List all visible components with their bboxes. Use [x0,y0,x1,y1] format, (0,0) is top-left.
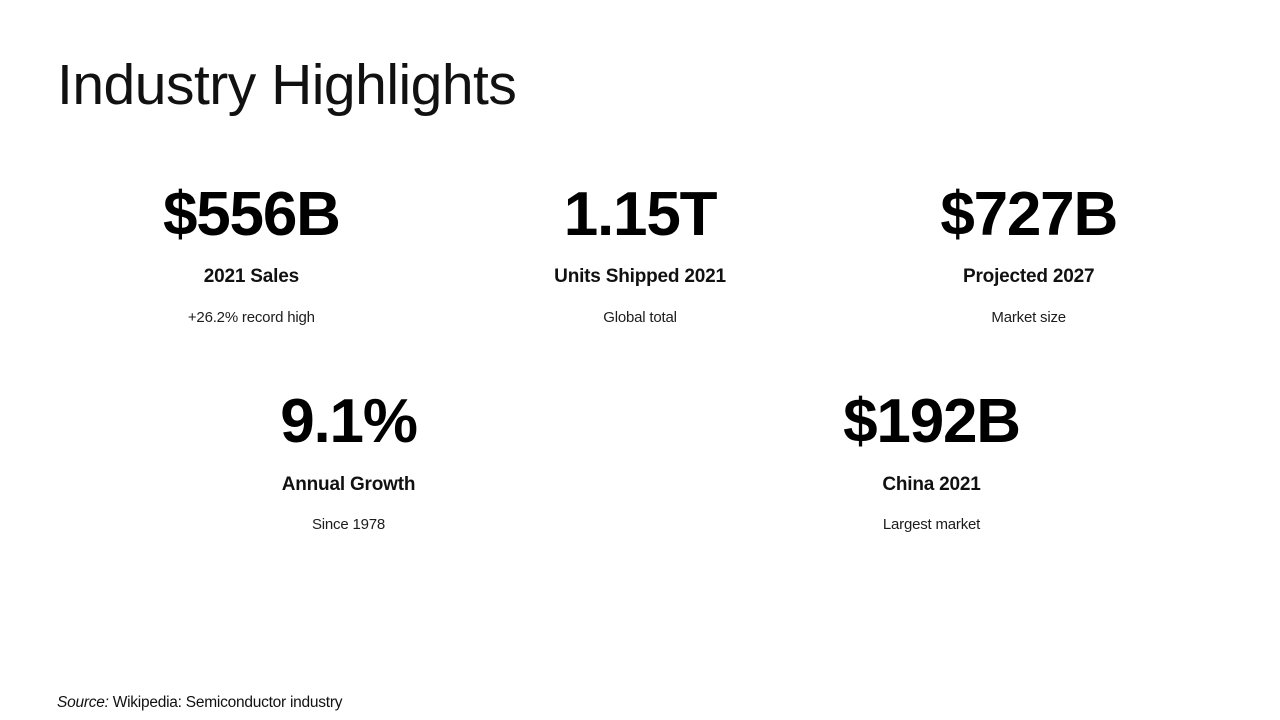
stat-card-annual-growth: 9.1% Annual Growth Since 1978 [57,387,640,534]
source-label: Source: [57,694,109,711]
stat-card-units-shipped-2021: 1.15T Units Shipped 2021 Global total [446,180,835,327]
stat-label: Projected 2027 [963,266,1094,289]
stat-card-china-2021: $192B China 2021 Largest market [640,387,1223,534]
slide-canvas: Industry Highlights $556B 2021 Sales +26… [0,0,1280,720]
stat-label: China 2021 [882,474,980,497]
statistics-grid: $556B 2021 Sales +26.2% record high 1.15… [57,180,1223,534]
stat-card-projected-2027: $727B Projected 2027 Market size [834,180,1223,327]
source-attribution: Source: Wikipedia: Semiconductor industr… [57,694,342,712]
stat-row: $556B 2021 Sales +26.2% record high 1.15… [57,180,1223,327]
stat-value: $556B [163,180,340,249]
stat-label: 2021 Sales [204,266,299,289]
stat-sublabel: +26.2% record high [188,309,315,327]
stat-sublabel: Since 1978 [312,516,385,534]
page-title: Industry Highlights [57,54,516,117]
stat-sublabel: Global total [603,309,676,327]
stat-card-2021-sales: $556B 2021 Sales +26.2% record high [57,180,446,327]
stat-sublabel: Largest market [883,516,980,534]
stat-value: $192B [843,387,1020,456]
stat-value: 9.1% [280,387,417,456]
stat-row: 9.1% Annual Growth Since 1978 $192B Chin… [57,387,1223,534]
stat-label: Units Shipped 2021 [554,266,726,289]
stat-sublabel: Market size [991,309,1066,327]
source-text: Wikipedia: Semiconductor industry [113,694,343,711]
stat-value: 1.15T [564,180,717,249]
stat-label: Annual Growth [282,474,416,497]
stat-value: $727B [940,180,1117,249]
